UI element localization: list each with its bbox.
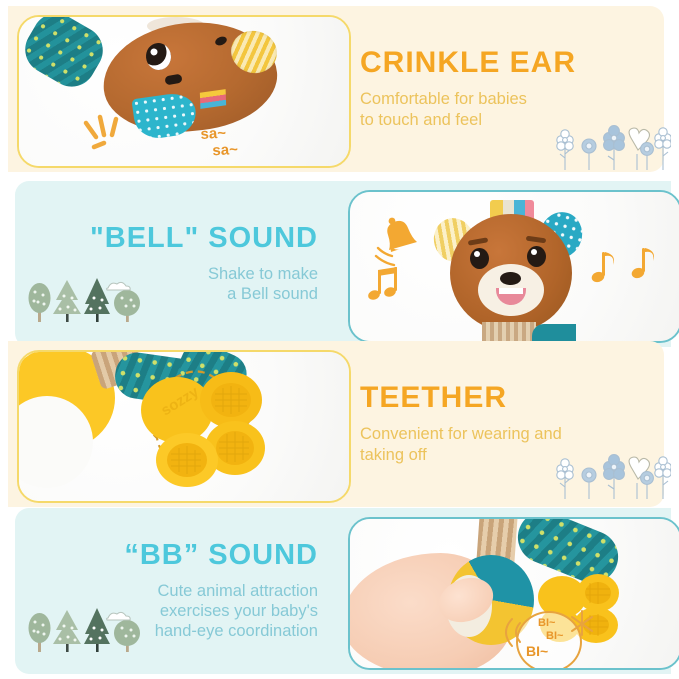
product-photo-crinkle-ear: sa~ sa~ [17,15,351,168]
panel-heading: "BELL" SOUND [90,224,318,253]
panel-heading: “BB” SOUND [124,541,318,570]
flower-teether: sozzy [131,366,281,492]
crinkle-rays-icon [82,113,130,155]
sound-line-1: BI~ [538,617,580,630]
panel-subtitle: Cute animal attraction exercises your ba… [155,581,318,641]
panel-bell-sound: "BELL" SOUND Shake to make a Bell sound [0,181,679,347]
panel-subtitle: Convenient for wearing and taking off [360,424,562,464]
music-note-icon [364,264,412,308]
product-photo-bb-sound: BI~ BI~ BI~ [348,517,679,670]
bear-nose [500,272,521,285]
bear-eye-right [527,246,546,267]
bear-muzzle-teal [131,91,198,141]
product-photo-teether: sozzy [17,350,351,503]
panel-text-bell-sound: "BELL" SOUND Shake to make a Bell sound [18,181,318,347]
panel-bb-sound: “BB” SOUND Cute animal attraction exerci… [0,508,679,674]
crinkle-sound-text: sa~ sa~ [200,124,238,160]
sound-line-3: BI~ [526,643,580,660]
panel-heading: CRINKLE EAR [360,48,576,78]
panel-text-teether: TEETHER Convenient for wearing and takin… [360,341,660,507]
sound-line-2: sa~ [212,141,238,160]
panel-subtitle: Comfortable for babies to touch and feel [360,89,527,129]
music-note-icon [622,244,662,286]
sound-line-1: sa~ [200,124,237,143]
panel-text-crinkle-ear: CRINKLE EAR Comfortable for babies to to… [360,6,660,172]
bb-sound-text: BI~ BI~ BI~ [522,617,580,660]
panel-crinkle-ear: sa~ sa~ CRINKLE EAR Comfortable for babi… [0,6,679,172]
sound-line-2: BI~ [546,630,580,643]
music-note-icon [582,248,626,290]
panel-subtitle: Shake to make a Bell sound [208,264,318,304]
product-photo-bell-sound [348,190,679,343]
woven-neck [482,322,536,343]
infographic-page: sa~ sa~ CRINKLE EAR Comfortable for babi… [0,0,679,679]
panel-heading: TEETHER [360,383,507,413]
bear-eye-left [470,248,489,269]
panel-text-bb-sound: “BB” SOUND Cute animal attraction exerci… [18,508,318,674]
bell-icon [368,214,438,270]
panel-teether: sozzy TEETHER Convenient for wearing and… [0,341,679,507]
